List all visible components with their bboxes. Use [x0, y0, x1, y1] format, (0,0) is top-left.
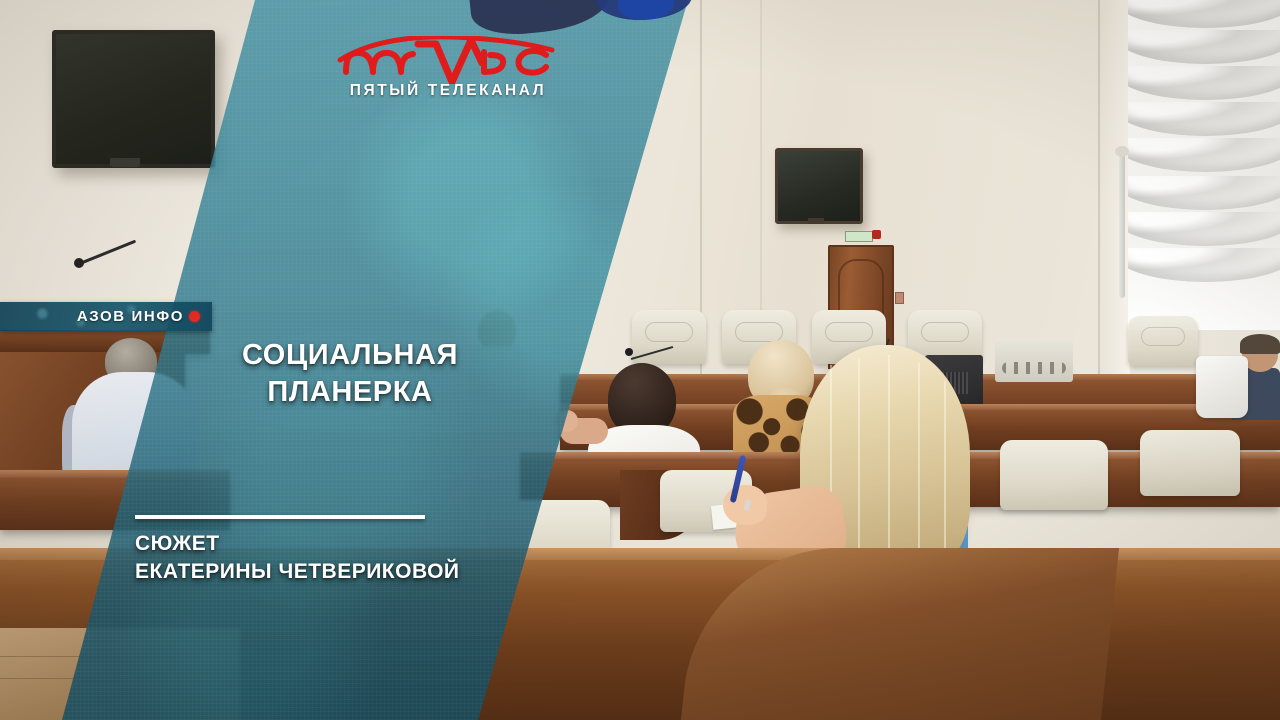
exit-sign — [845, 231, 873, 242]
wall-tv-left — [52, 30, 215, 168]
tv-mount — [808, 218, 824, 224]
exit-indicator — [872, 230, 881, 239]
light-switch — [895, 292, 904, 304]
byline-line-2: ЕКАТЕРИНЫ ЧЕТВЕРИКОВОЙ — [135, 558, 460, 586]
person-right-hair — [1240, 334, 1280, 354]
curtain-rod-knob — [1115, 146, 1129, 157]
headline-line-2: ПЛАНЕРКА — [180, 374, 520, 411]
microphone-head — [74, 258, 84, 268]
wall-tv-right — [775, 148, 863, 224]
program-bug: АЗОВ ИНФО — [0, 302, 212, 331]
headline-line-1: СОЦИАЛЬНАЯ — [180, 337, 520, 374]
headline: СОЦИАЛЬНАЯ ПЛАНЕРКА — [180, 337, 520, 411]
puls-wordmark-icon — [332, 36, 564, 84]
chair-back — [1140, 430, 1240, 496]
live-dot-icon — [189, 311, 200, 322]
curtain-rod — [1119, 152, 1125, 298]
byline: СЮЖЕТ ЕКАТЕРИНЫ ЧЕТВЕРИКОВОЙ — [135, 530, 460, 586]
rack-knobs — [1002, 362, 1066, 374]
curtain — [1128, 0, 1280, 300]
white-bag — [1196, 356, 1248, 418]
program-bug-label: АЗОВ ИНФО — [77, 308, 184, 325]
wall-right-edge — [1100, 0, 1130, 400]
chair-back — [1128, 316, 1198, 366]
equipment-rack — [995, 338, 1073, 382]
channel-logo: ПЯТЫЙ ТЕЛЕКАНАЛ — [332, 36, 564, 104]
wall-seam — [700, 0, 702, 430]
channel-tagline: ПЯТЫЙ ТЕЛЕКАНАЛ — [332, 82, 564, 100]
tv-mount — [110, 158, 140, 167]
byline-line-1: СЮЖЕТ — [135, 530, 460, 558]
microphone-head — [625, 348, 633, 356]
chair-back — [1000, 440, 1108, 510]
byline-rule — [135, 515, 425, 519]
broadcast-frame: ПЯТЫЙ ТЕЛЕКАНАЛ АЗОВ ИНФО СОЦИАЛЬНАЯ ПЛА… — [0, 0, 1280, 720]
